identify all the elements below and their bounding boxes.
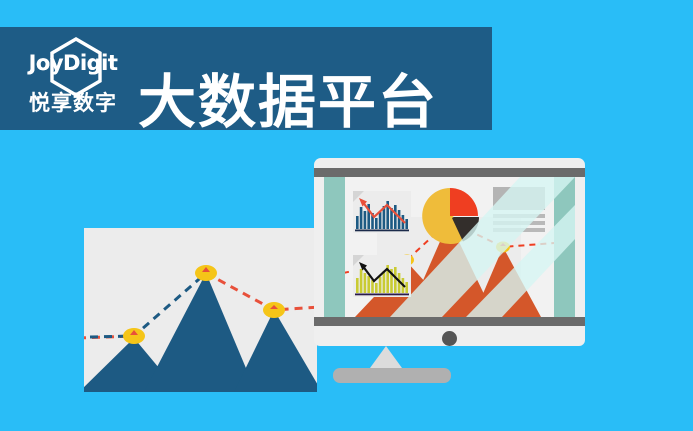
widget-pie-chart[interactable] <box>419 185 481 247</box>
page-title: 大数据平台 <box>138 73 438 131</box>
monitor-bottom-bezel <box>314 317 585 326</box>
monitor-power-button[interactable] <box>442 331 457 346</box>
monitor-screen <box>324 177 575 317</box>
text-block-line <box>493 214 545 218</box>
header-banner: JoyDigit 悦享数字 大数据平台 <box>0 27 492 130</box>
text-block-line <box>493 228 545 232</box>
text-block-line <box>493 221 545 225</box>
widget-bar-chart-yellow[interactable] <box>353 255 411 297</box>
monitor-stand <box>370 346 402 368</box>
monitor <box>314 158 585 346</box>
poster-canvas: JoyDigit 悦享数字 大数据平台 <box>0 0 693 431</box>
left-chart-panel <box>84 228 317 392</box>
brand-logo: JoyDigit 悦享数字 <box>18 35 128 123</box>
blue-mountain-chart <box>84 228 317 392</box>
logo-chinese-name: 悦享数字 <box>18 93 128 114</box>
screen-left-strip <box>324 177 345 317</box>
monitor-top-bezel <box>314 168 585 177</box>
text-block-header <box>493 187 545 210</box>
monitor-base <box>333 368 451 383</box>
logo-wordmark: JoyDigit <box>18 53 128 74</box>
widget-text-block[interactable] <box>493 187 545 231</box>
bar-chart-blue-graphic <box>353 191 411 233</box>
screen-right-strip <box>554 177 575 317</box>
dashboard-area <box>345 177 554 317</box>
bar-chart-yellow-graphic <box>353 255 411 297</box>
widget-bar-chart-blue[interactable] <box>353 191 411 233</box>
